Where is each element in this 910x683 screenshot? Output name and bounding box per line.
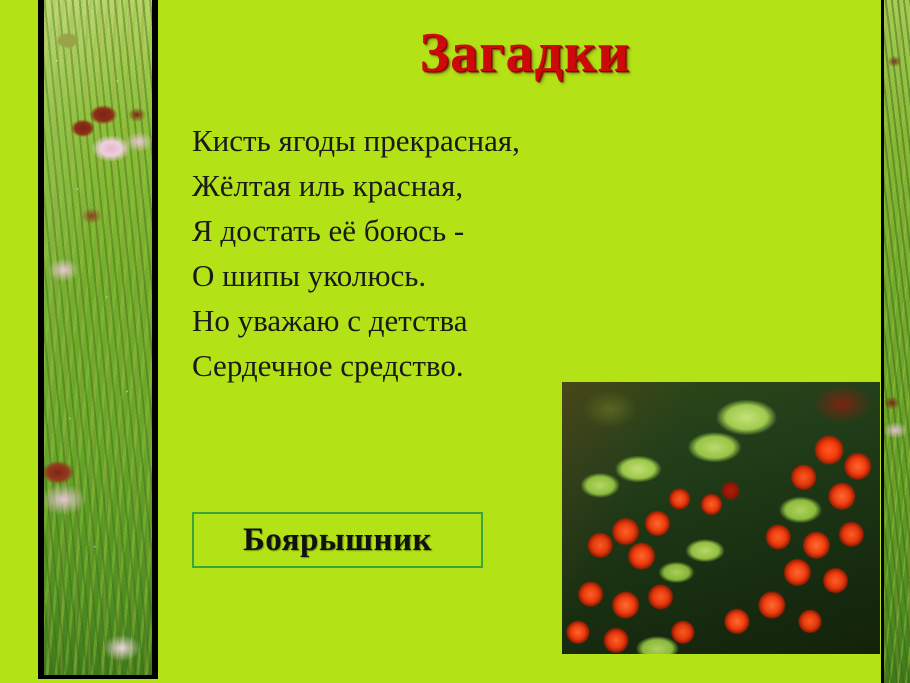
riddle-line: Сердечное средство.	[192, 343, 612, 388]
riddle-line: О шипы уколюсь.	[192, 253, 612, 298]
riddle-text-block: Кисть ягоды прекрасная, Жёлтая иль красн…	[192, 118, 612, 388]
coneflower-meadow-photo-right	[884, 0, 910, 683]
riddle-line: Но уважаю с детства	[192, 298, 612, 343]
hawthorn-berries-photo	[562, 382, 880, 654]
riddle-line: Кисть ягоды прекрасная,	[192, 118, 612, 163]
right-decorative-photo-strip	[881, 0, 910, 683]
coneflower-meadow-photo	[44, 0, 152, 675]
left-decorative-photo-strip	[38, 0, 158, 679]
riddle-line: Жёлтая иль красная,	[192, 163, 612, 208]
page-title: Загадки	[170, 24, 880, 83]
answer-box: Боярышник	[192, 512, 483, 568]
answer-label: Боярышник	[243, 522, 432, 559]
presentation-slide: Загадки Кисть ягоды прекрасная, Жёлтая и…	[0, 0, 910, 683]
riddle-line: Я достать её боюсь -	[192, 208, 612, 253]
